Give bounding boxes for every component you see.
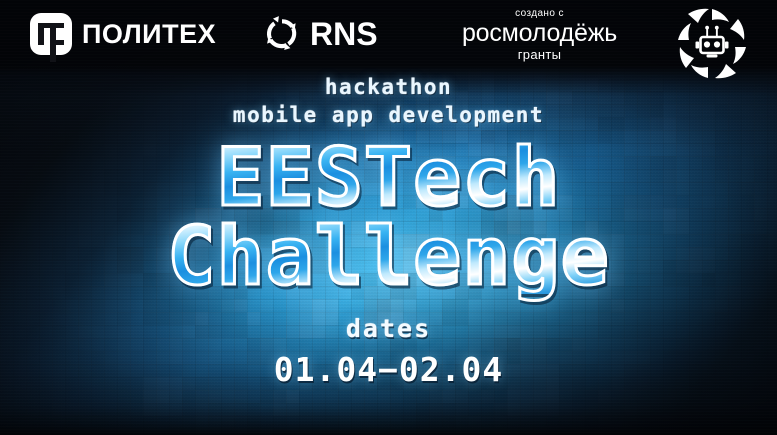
rns-wordmark: RNS [310,18,378,50]
logo-politech[interactable]: ПОЛИТЕХ [30,13,216,55]
logo-robot[interactable] [672,3,752,87]
dates-value: 01.04−02.04 [274,350,504,389]
logo-bar: ПОЛИТЕХ RNS [0,0,777,68]
robot-aperture-icon [672,3,752,87]
logo-rns[interactable]: RNS [262,14,378,54]
politech-mark-icon [30,13,72,55]
rosmolodezh-wordmark: росмолодёжь [462,20,617,47]
title-line-1: EESTech [167,140,609,215]
logo-rosmolodezh[interactable]: создано с росмолодёжь гранты [447,8,632,63]
kicker-line-1: hackathon [325,75,452,99]
politech-wordmark: ПОЛИТЕХ [82,21,216,48]
event-title: EESTech Challenge [167,140,609,294]
poster-root: ПОЛИТЕХ RNS [0,0,777,435]
dates-label: dates [274,314,504,343]
event-kicker: hackathon mobile app development [233,74,544,130]
rns-circular-arrows-icon [262,14,302,54]
event-dates: dates 01.04−02.04 [274,314,504,389]
title-line-2: Challenge [167,219,609,294]
kicker-line-2: mobile app development [233,102,544,130]
rosmolodezh-suffix: гранты [518,47,561,63]
